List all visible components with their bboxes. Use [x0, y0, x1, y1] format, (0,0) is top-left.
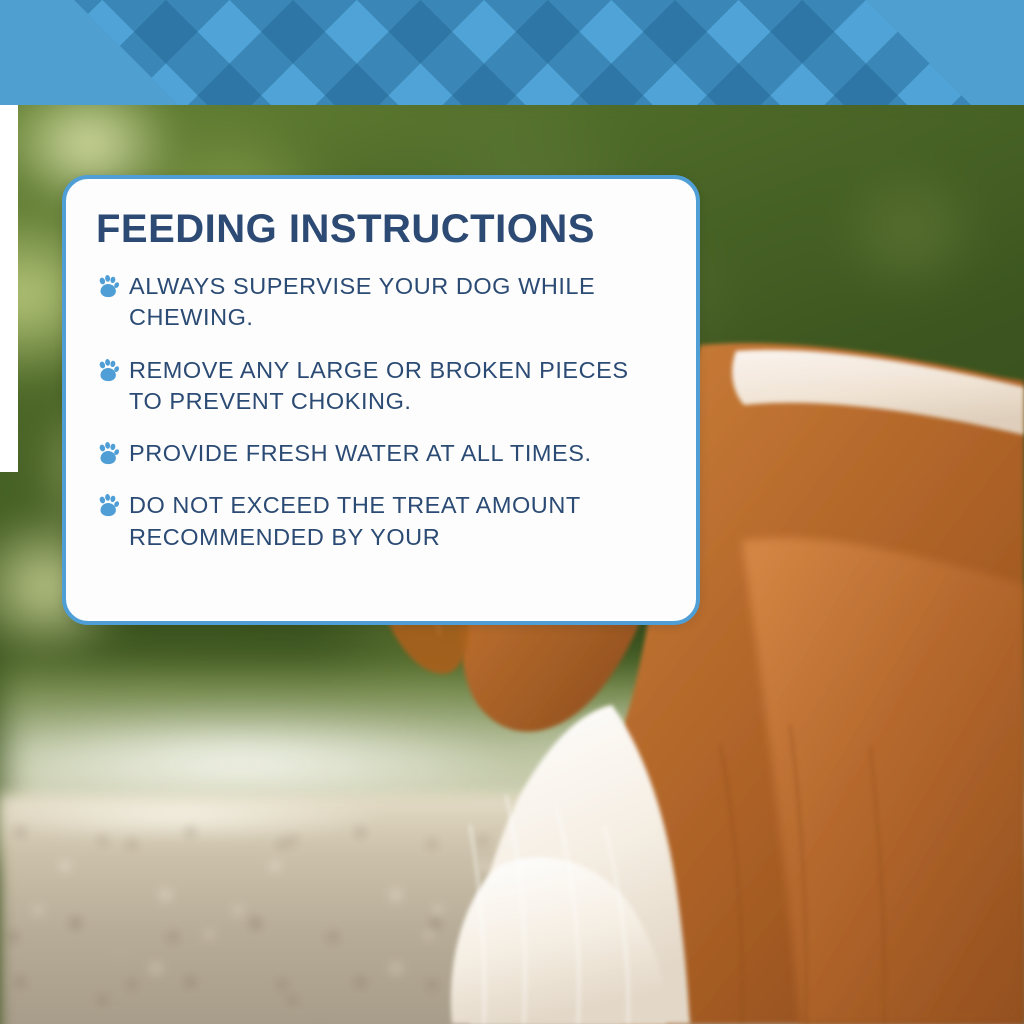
list-item: REMOVE ANY LARGE OR BROKEN PIECES TO PRE… — [96, 355, 666, 418]
gingham-check-pattern — [0, 0, 1024, 105]
paw-print-icon — [96, 494, 120, 518]
feeding-instructions-card: FEEDING INSTRUCTIONS ALWAYS SUPERVISE YO… — [62, 175, 700, 625]
list-item: PROVIDE FRESH WATER AT ALL TIMES. — [96, 438, 666, 469]
gingham-header-banner — [0, 0, 1024, 105]
list-item-text: REMOVE ANY LARGE OR BROKEN PIECES TO PRE… — [129, 355, 666, 418]
paw-print-icon — [96, 275, 120, 299]
poster-canvas: FEEDING INSTRUCTIONS ALWAYS SUPERVISE YO… — [0, 0, 1024, 1024]
list-item-text: PROVIDE FRESH WATER AT ALL TIMES. — [129, 438, 592, 469]
list-item: DO NOT EXCEED THE TREAT AMOUNT RECOMMEND… — [96, 490, 666, 553]
list-item-text: DO NOT EXCEED THE TREAT AMOUNT RECOMMEND… — [129, 490, 666, 553]
paw-print-icon — [96, 442, 120, 466]
list-item: ALWAYS SUPERVISE YOUR DOG WHILE CHEWING. — [96, 271, 666, 334]
page-title: FEEDING INSTRUCTIONS — [96, 207, 666, 251]
feeding-instructions-list: ALWAYS SUPERVISE YOUR DOG WHILE CHEWING.… — [96, 271, 666, 553]
list-item-text: ALWAYS SUPERVISE YOUR DOG WHILE CHEWING. — [129, 271, 666, 334]
paw-print-icon — [96, 359, 120, 383]
